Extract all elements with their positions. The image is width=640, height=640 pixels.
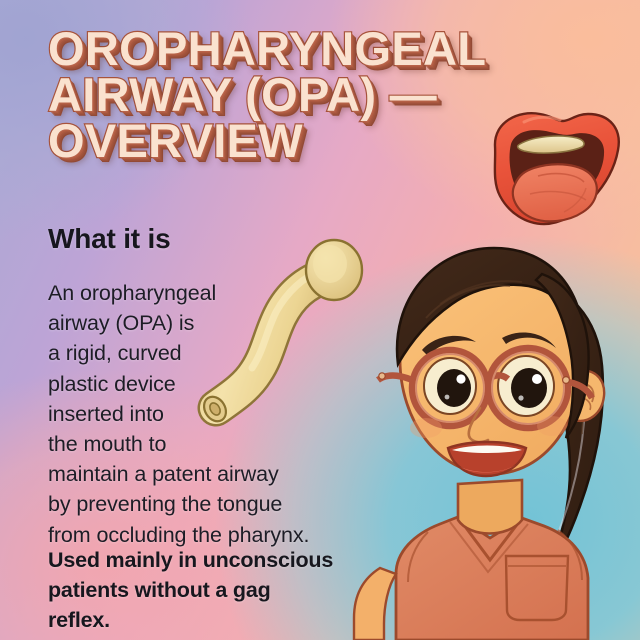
body-paragraph-emphasis: Used mainly in unconscious patients with… (48, 545, 388, 636)
page-title: Oropharyngeal Airway (OPA) — Overview (48, 26, 568, 164)
poster-canvas: Oropharyngeal Airway (OPA) — Overview Wh… (0, 0, 640, 640)
section-heading: What it is (48, 223, 170, 255)
body-paragraph: An oropharyngeal airway (OPA) is a rigid… (48, 278, 378, 550)
